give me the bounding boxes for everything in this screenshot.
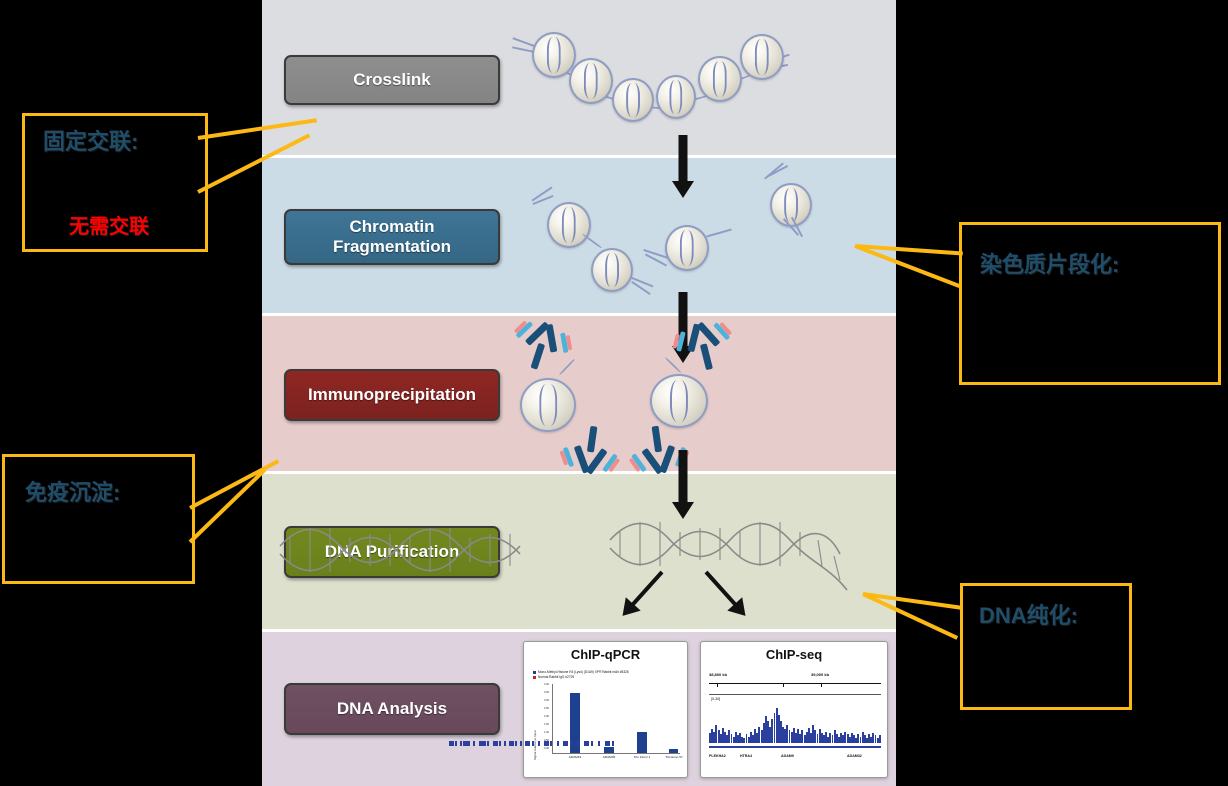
bar-trio-intron1 (637, 732, 647, 753)
seq-peak (879, 735, 881, 743)
chip-workflow-panel: Crosslink Chromatin Fragmentation Immuno… (262, 0, 896, 786)
gene-exon-block (584, 741, 589, 746)
slide-canvas: Crosslink Chromatin Fragmentation Immuno… (0, 0, 1228, 786)
gene-label: HTRA4 (740, 754, 752, 758)
chip-seq-title: ChIP-seq (701, 647, 887, 662)
gene-exon-block (550, 741, 552, 746)
gene-exon-block (509, 741, 514, 746)
chip-seq-ruler-right: 39,000 kb (811, 672, 829, 677)
gene-exon-block (515, 741, 517, 746)
callout-crosslink-note: 无需交联 (69, 210, 149, 239)
xtick-label: Trio Exon 57 (660, 756, 688, 760)
gene-exon-block (487, 741, 489, 746)
chip-seq-range-label: [0-30] (711, 697, 720, 701)
gene-exon-block (577, 741, 579, 746)
xtick-label: ADAM19 (560, 756, 590, 760)
callout-ip-title: 免疫沉淀: (25, 475, 120, 507)
callout-fragmentation[interactable]: 染色质片段化: (959, 222, 1221, 385)
callout-fragmentation-title: 染色质片段化: (980, 247, 1119, 279)
gene-exon-block (504, 741, 506, 746)
gene-exon-block (468, 741, 470, 746)
gene-exon-block (520, 741, 522, 746)
fragmentation-line2: Fragmentation (333, 237, 451, 256)
gene-label: ADAM32 (847, 754, 862, 758)
gene-exon-block (612, 741, 614, 746)
gene-exon-block (449, 741, 454, 746)
legend-label: Mono-Methyl-Histone H3 (Lys4) (D1A9) XP®… (538, 670, 629, 674)
step-label-crosslink[interactable]: Crosslink (284, 55, 500, 105)
chip-qpcr-xaxis (552, 753, 680, 754)
gene-exon-block (473, 741, 475, 746)
gene-exon-block (557, 741, 559, 746)
legend-item: Normal Rabbit IgG #2729 (533, 675, 685, 680)
chip-qpcr-title: ChIP-qPCR (524, 647, 687, 662)
bar-trio-exon57 (669, 749, 678, 753)
chip-seq-ruler-left: 38,800 kb (709, 672, 727, 677)
chip-qpcr-yaxis (552, 684, 553, 754)
chip-seq-gene-axis (709, 746, 881, 748)
step-label-crosslink-text: Crosslink (353, 70, 430, 90)
fragmentation-line1: Chromatin (350, 217, 435, 236)
callout-crosslink[interactable]: 固定交联: 无需交联 (22, 113, 208, 252)
chip-seq-tick (821, 683, 822, 687)
callout-crosslink-title: 固定交联: (43, 124, 138, 156)
gene-exon-block (460, 741, 462, 746)
gene-label: ADAM9 (781, 754, 794, 758)
bar-adam30 (604, 747, 614, 753)
xtick-label: ADAM30 (594, 756, 624, 760)
step-label-immunoprecipitation[interactable]: Immunoprecipitation (284, 369, 500, 421)
step-label-dna-analysis[interactable]: DNA Analysis (284, 683, 500, 735)
chip-seq-chart-card[interactable]: ChIP-seq 38,800 kb 39,000 kb [0-30] PLEK… (700, 641, 888, 778)
step-label-analysis-text: DNA Analysis (337, 699, 447, 719)
chip-seq-tick (783, 683, 784, 687)
gene-exon-block (598, 741, 600, 746)
gene-exon-block (563, 741, 568, 746)
antibody-icon (559, 420, 622, 481)
gene-exon-block (538, 741, 540, 746)
dna-helix-icon (262, 498, 896, 628)
xtick-label: Trio Intron 1 (628, 756, 656, 760)
gene-exon-block (499, 741, 501, 746)
gene-exon-block (591, 741, 593, 746)
chip-seq-tick (717, 683, 718, 687)
step-label-ip-text: Immunoprecipitation (308, 385, 476, 405)
chip-seq-scale-axis (709, 683, 881, 684)
gene-exon-block (484, 741, 486, 746)
gene-exon-block (570, 741, 572, 746)
callout-dna-purification[interactable]: DNA纯化: (960, 583, 1132, 710)
callout-purification-title: DNA纯化: (979, 598, 1078, 630)
gene-label: PLEKHA2 (709, 754, 726, 758)
gene-exon-block (532, 741, 534, 746)
gene-exon-block (605, 741, 610, 746)
step-label-fragmentation-text: Chromatin Fragmentation (333, 217, 451, 257)
step-label-chromatin-fragmentation[interactable]: Chromatin Fragmentation (284, 209, 500, 265)
chip-seq-divider (709, 694, 881, 695)
callout-immunoprecipitation[interactable]: 免疫沉淀: (2, 454, 195, 584)
chip-qpcr-legend: Mono-Methyl-Histone H3 (Lys4) (D1A9) XP®… (533, 670, 685, 680)
gene-exon-block (525, 741, 530, 746)
legend-label: Normal Rabbit IgG #2729 (538, 675, 574, 679)
gene-exon-block (493, 741, 498, 746)
gene-exon-block (455, 741, 457, 746)
chip-seq-signal-track (709, 705, 881, 743)
arrow-crosslink-to-fragmentation (671, 135, 695, 197)
chip-qpcr-chart-card[interactable]: ChIP-qPCR Mono-Methyl-Histone H3 (Lys4) … (523, 641, 688, 778)
gene-exon-block (544, 741, 549, 746)
